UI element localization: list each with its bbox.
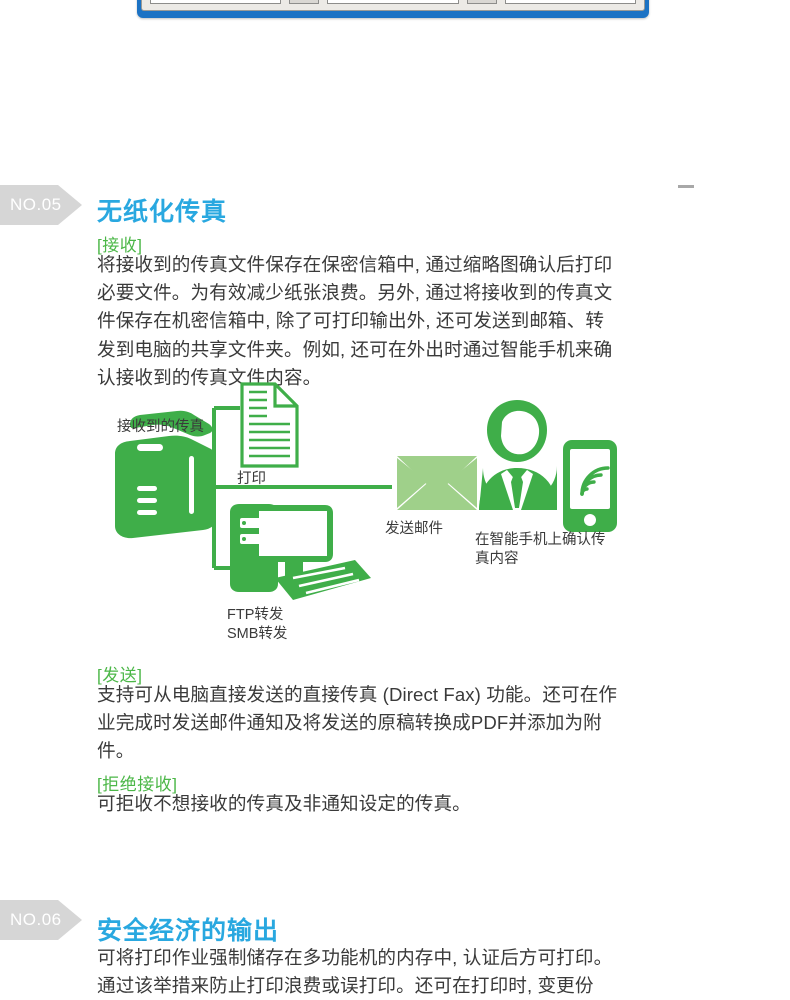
diagram-label-mail: 发送邮件 bbox=[385, 520, 443, 539]
diagram-label-pc: FTP转发 SMB转发 bbox=[227, 606, 287, 644]
body-text-reject: 可拒收不想接收的传真及非通知设定的传真。 bbox=[97, 790, 619, 818]
dialog-browse-button-1[interactable] bbox=[289, 0, 319, 4]
document-page-icon bbox=[242, 384, 297, 466]
envelope-icon bbox=[397, 456, 477, 510]
body-paragraph: 可拒收不想接收的传真及非通知设定的传真。 bbox=[97, 790, 619, 818]
diagram-label-mfp: 接收到的传真 bbox=[117, 418, 204, 437]
body-paragraph: 将接收到的传真文件保存在保密信箱中, 通过缩略图确认后打印必要文件。为有效减少纸… bbox=[97, 251, 619, 392]
desktop-computer-icon bbox=[230, 504, 371, 600]
section-badge-no06: NO.06 bbox=[0, 900, 82, 940]
section-title-no06: 安全经济的输出 bbox=[97, 911, 279, 947]
cropped-dialog-bottom-edge bbox=[137, 0, 649, 18]
brochure-page: NO.05 无纸化传真 [接收] 将接收到的传真文件保存在保密信箱中, 通过缩略… bbox=[0, 0, 790, 1000]
section-title-no05: 无纸化传真 bbox=[97, 192, 227, 228]
body-paragraph: 可将打印作业强制储存在多功能机的内存中, 认证后方可打印。通过该举措来防止打印浪… bbox=[97, 944, 619, 1000]
dialog-text-field-1[interactable] bbox=[150, 0, 281, 4]
smartphone-icon bbox=[563, 440, 617, 532]
diagram-label-smartphone: 在智能手机上确认传 真内容 bbox=[475, 531, 606, 569]
dialog-field-row bbox=[141, 0, 645, 11]
dialog-browse-button-2[interactable] bbox=[467, 0, 497, 4]
body-text-secure-output: 可将打印作业强制储存在多功能机的内存中, 认证后方可打印。通过该举措来防止打印浪… bbox=[97, 944, 619, 1000]
dialog-text-field-2[interactable] bbox=[327, 0, 458, 4]
section-badge-no05: NO.05 bbox=[0, 185, 82, 225]
margin-tick-mark bbox=[678, 185, 694, 188]
diagram-label-print: 打印 bbox=[237, 470, 266, 489]
body-paragraph: 支持可从电脑直接发送的直接传真 (Direct Fax) 功能。还可在作业完成时… bbox=[97, 681, 619, 766]
badge-label: NO.05 bbox=[0, 195, 62, 215]
body-text-receive: 将接收到的传真文件保存在保密信箱中, 通过缩略图确认后打印必要文件。为有效减少纸… bbox=[97, 251, 619, 392]
body-text-send: 支持可从电脑直接发送的直接传真 (Direct Fax) 功能。还可在作业完成时… bbox=[97, 681, 619, 766]
person-icon bbox=[479, 400, 557, 510]
paperless-fax-flow-diagram: 接收到的传真 打印 FTP转发 SMB转发 发送邮件 在智能手机上确认传 真内容 bbox=[97, 378, 627, 646]
dialog-text-field-3[interactable] bbox=[505, 0, 636, 4]
badge-label: NO.06 bbox=[0, 910, 62, 930]
